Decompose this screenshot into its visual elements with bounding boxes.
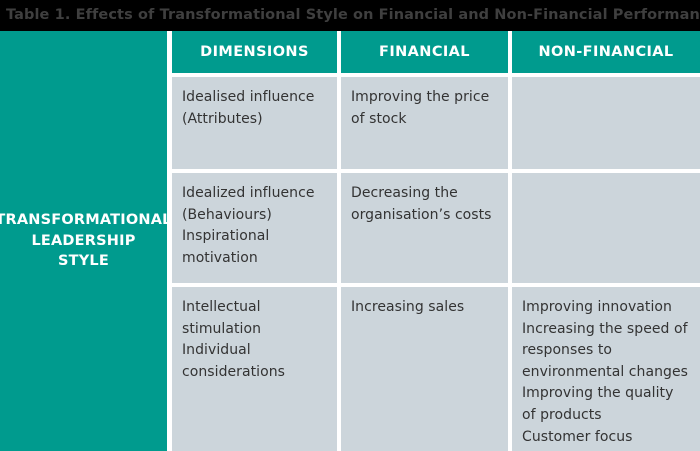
row-group-label-cell: TRANSFORMATIONAL LEADERSHIP STYLE [0,31,167,451]
table-cell-text: Increasing sales [351,299,464,315]
table-cell-r3-dimensions: Intellectual stimulation Individual cons… [172,287,337,451]
row-group-label: TRANSFORMATIONAL LEADERSHIP STYLE [0,210,172,272]
table-title-bar: Table 1. Effects of Transformational Sty… [0,0,700,31]
table-cell-r1-financial: Improving the price of stock [341,77,508,169]
column-header-financial: FINANCIAL [341,31,508,73]
table-grid: TRANSFORMATIONAL LEADERSHIP STYLE DIMENS… [0,31,700,451]
table-cell-r3-nonfinancial: Improving innovation Increasing the spee… [512,287,700,451]
table-cell-r1-nonfinancial [512,77,700,169]
column-header-nonfinancial: NON-FINANCIAL [512,31,700,73]
table-cell-text: Improving innovation Increasing the spee… [522,299,688,451]
table-cell-r2-dimensions: Idealized influence (Behaviours) Inspira… [172,173,337,283]
column-header-dimensions: DIMENSIONS [172,31,337,73]
table-cell-r2-financial: Decreasing the organisation’s costs [341,173,508,283]
table-cell-r3-financial: Increasing sales [341,287,508,451]
table-cell-r2-nonfinancial [512,173,700,283]
table-caption: Table 1. Effects of Transformational Sty… [6,8,700,23]
table-cell-text: Improving the price of stock [351,89,489,127]
column-header-financial-label: FINANCIAL [379,44,470,60]
table-cell-text: Idealized influence (Behaviours) Inspira… [182,185,315,266]
table-cell-text: Decreasing the organisation’s costs [351,185,492,223]
table-figure: Table 1. Effects of Transformational Sty… [0,0,700,451]
column-header-dimensions-label: DIMENSIONS [200,44,309,60]
table-cell-r1-dimensions: Idealised influence (Attributes) [172,77,337,169]
column-header-nonfinancial-label: NON-FINANCIAL [538,44,673,60]
table-cell-text: Intellectual stimulation Individual cons… [182,299,285,380]
table-cell-text: Idealised influence (Attributes) [182,89,314,127]
